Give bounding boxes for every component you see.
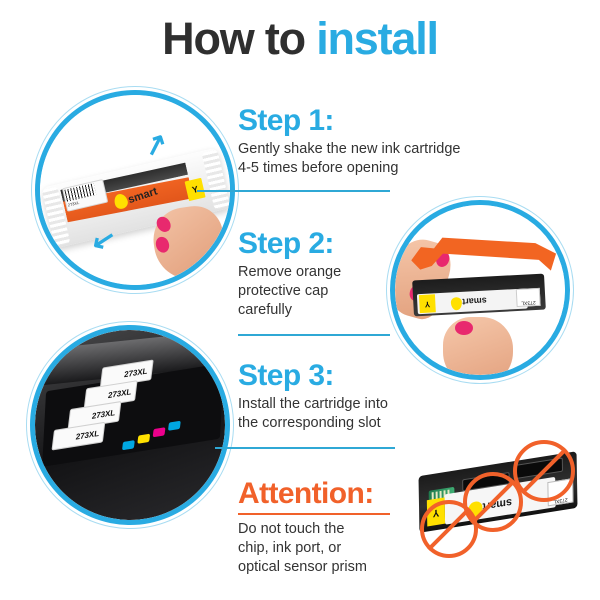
cartridge-color-tab: Y [419, 294, 436, 313]
step-1-body-line-2: 4-5 times before opening [238, 159, 528, 178]
page-title-blue-part: install [316, 13, 438, 64]
attention-body-line-2: chip, ink port, or [238, 539, 448, 558]
step-2-body-line-3: carefully [238, 301, 398, 320]
divider-under-attention-heading [238, 513, 390, 515]
cartridge-model-code: 273XL [516, 288, 541, 307]
step-3-photo: 273XL 273XL 273XL 273XL [35, 330, 225, 520]
fingernail [455, 321, 473, 335]
step-3-scene: 273XL 273XL 273XL 273XL [35, 330, 225, 520]
step-2-text: Step 2: Remove orange protective cap car… [238, 228, 398, 320]
do-not-touch-optical-sensor-prism-icon [513, 440, 575, 502]
attention-heading: Attention: [238, 478, 448, 510]
infographic-page: How to install 273XL smart Y [0, 0, 600, 600]
divider-after-step-3 [215, 447, 395, 449]
step-1-body-line-1: Gently shake the new ink cartridge [238, 140, 528, 159]
step-3-body-line-1: Install the cartridge into [238, 395, 478, 414]
divider-after-step-2 [238, 334, 390, 336]
cartridge-label: 273XL [91, 408, 115, 421]
cartridge-label: 273XL [107, 387, 131, 400]
attention-body-line-3: optical sensor prism [238, 558, 448, 577]
page-title-dark-part: How to [162, 13, 316, 64]
page-title: How to install [0, 14, 600, 64]
attention-photo: Y smart 273XL [418, 438, 593, 583]
smart-ink-logo: smart [451, 296, 487, 311]
fingernail [154, 235, 171, 254]
step-1-text: Step 1: Gently shake the new ink cartrid… [238, 105, 528, 178]
step-1-heading: Step 1: [238, 105, 528, 137]
step-3-heading: Step 3: [238, 360, 478, 392]
divider-after-step-1 [197, 190, 390, 192]
ink-cartridge: Y smart 273XL [412, 274, 546, 317]
cartridge-label: 273XL [124, 366, 148, 379]
attention-text: Attention: [238, 478, 448, 513]
cartridge-label: 273XL [75, 429, 99, 442]
ink-drop-icon [451, 297, 463, 311]
brand-name: smart [462, 296, 487, 307]
step-2-body-line-2: protective cap [238, 282, 398, 301]
step-3-body-line-2: the corresponding slot [238, 414, 478, 433]
step-2-scene: Y smart 273XL [395, 205, 565, 375]
step-3-text: Step 3: Install the cartridge into the c… [238, 360, 478, 433]
step-2-heading: Step 2: [238, 228, 398, 260]
attention-body: Do not touch the chip, ink port, or opti… [238, 520, 448, 577]
step-2-photo: Y smart 273XL [395, 205, 565, 375]
step-2-body-line-1: Remove orange [238, 263, 398, 282]
attention-body-line-1: Do not touch the [238, 520, 448, 539]
